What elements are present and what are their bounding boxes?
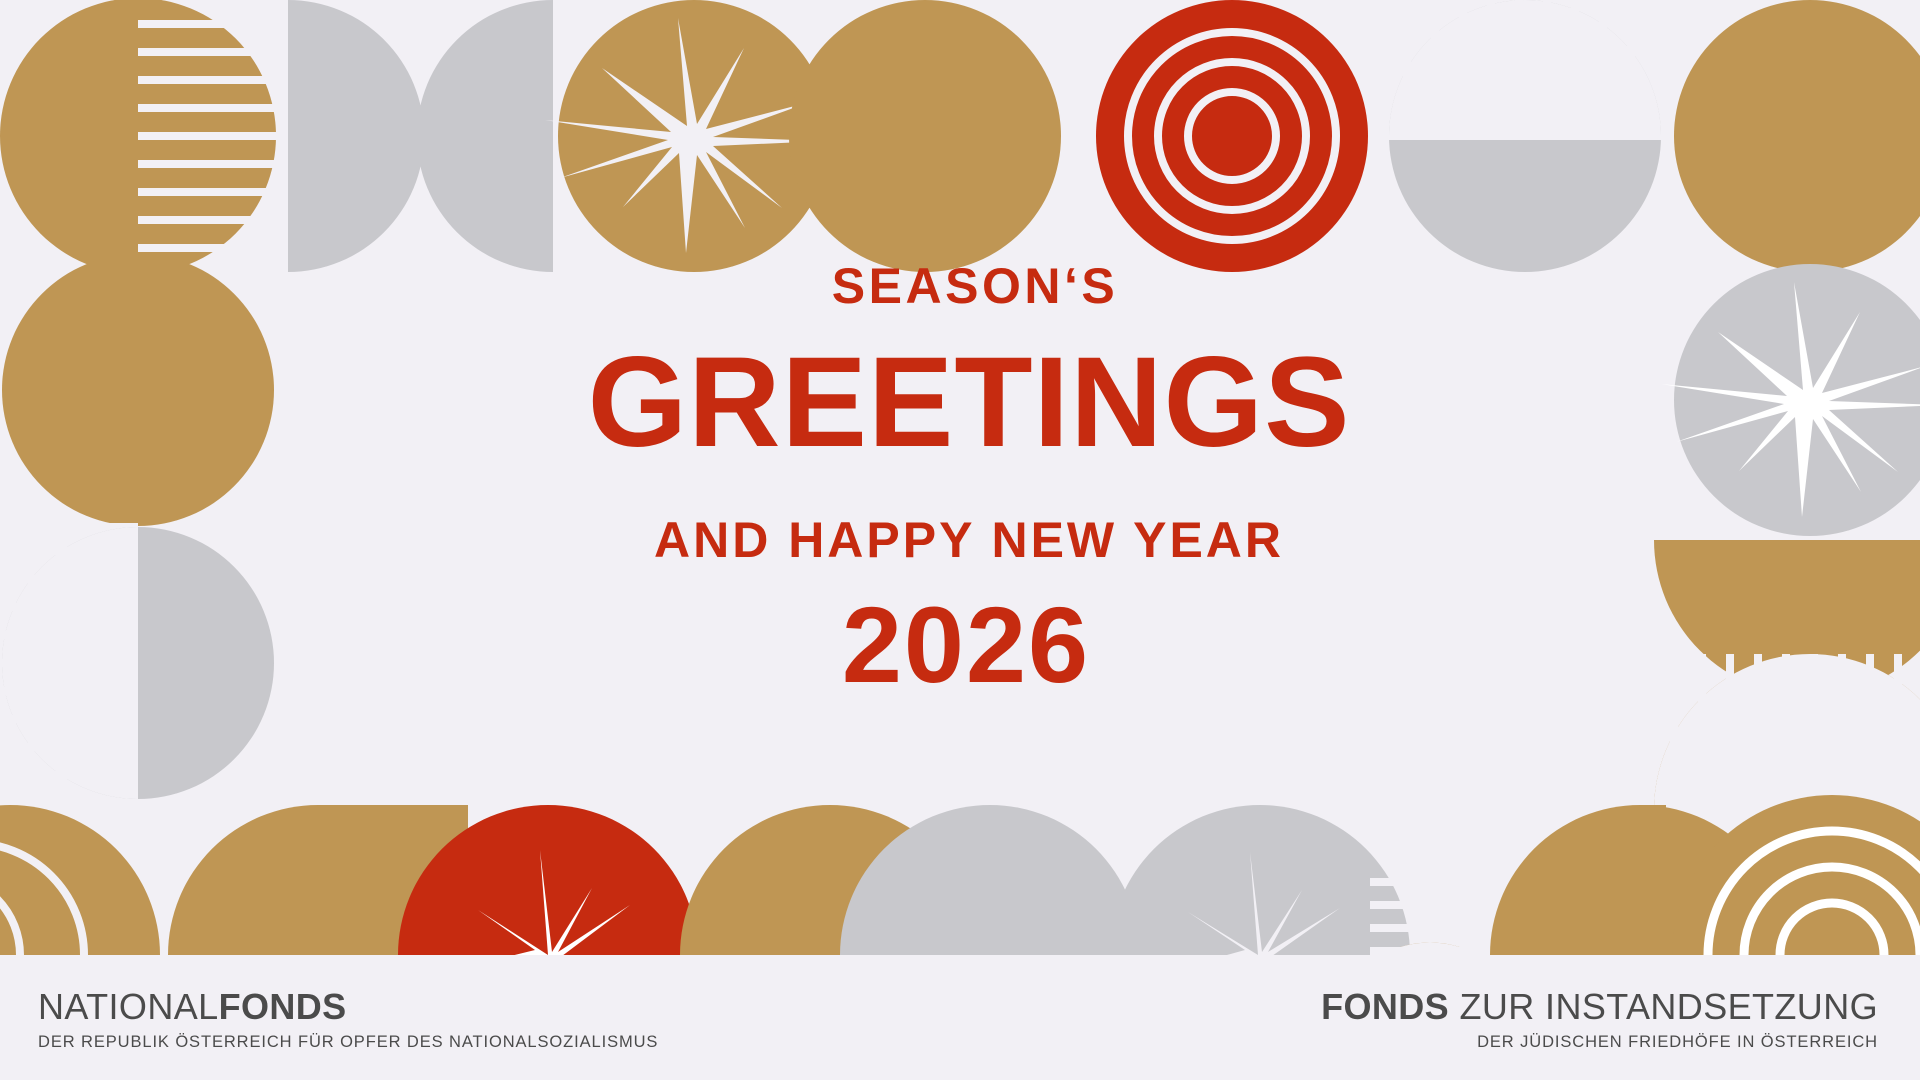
shape-gold-circle-top	[789, 0, 1061, 272]
logo-fonds-instandsetzung: FONDS ZUR INSTANDSETZUNG DER JÜDISCHEN F…	[1321, 988, 1878, 1052]
logo-nationalfonds: NATIONALFONDS DER REPUBLIK ÖSTERREICH FÜ…	[38, 988, 658, 1052]
logo-nationalfonds-name: NATIONALFONDS	[38, 988, 658, 1026]
logo-fonds-instandsetzung-name-light: ZUR INSTANDSETZUNG	[1449, 986, 1878, 1027]
shape-striped-grey-circle-top	[1389, 0, 1661, 272]
logo-fonds-instandsetzung-name: FONDS ZUR INSTANDSETZUNG	[1321, 988, 1878, 1026]
decorative-pattern-layer	[0, 0, 1920, 1080]
logo-nationalfonds-subtitle: DER REPUBLIK ÖSTERREICH FÜR OPFER DES NA…	[38, 1033, 658, 1052]
footer: NATIONALFONDS DER REPUBLIK ÖSTERREICH FÜ…	[0, 960, 1920, 1080]
logo-fonds-instandsetzung-name-bold: FONDS	[1321, 986, 1449, 1027]
greeting-card: SEASON‘S GREETINGS AND HAPPY NEW YEAR 20…	[0, 0, 1920, 1080]
logo-nationalfonds-name-bold: FONDS	[219, 986, 347, 1027]
shape-gold-circle-left	[2, 254, 274, 526]
shape-red-concentric-rings-circle	[1096, 0, 1368, 272]
logo-fonds-instandsetzung-subtitle: DER JÜDISCHEN FRIEDHÖFE IN ÖSTERREICH	[1477, 1033, 1878, 1052]
logo-nationalfonds-name-light: NATIONAL	[38, 986, 219, 1027]
